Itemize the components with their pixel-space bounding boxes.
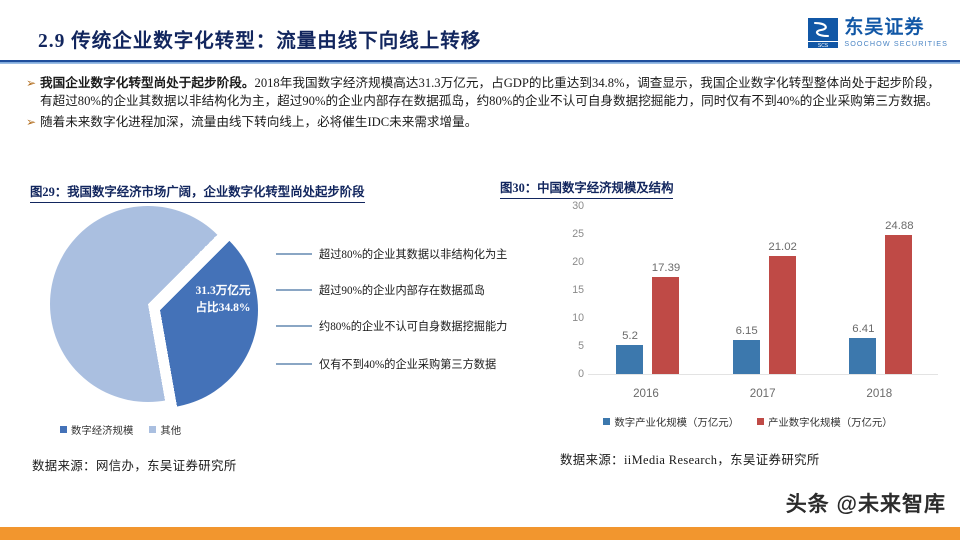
callout-leader-line: [276, 363, 312, 364]
x-axis-label-2016: 2016: [596, 387, 696, 400]
figure29-title: 图29：我国数字经济市场广阔，企业数字化转型尚处起步阶段: [30, 182, 365, 203]
bar-2018-series2: [885, 235, 912, 374]
bar-group: 6.4124.882018: [821, 207, 938, 374]
brand-name-cn: 东吴证券: [844, 18, 948, 37]
y-axis-tick: 30: [562, 200, 584, 212]
callout-text-4: 仅有不到40%的企业采购第三方数据: [319, 356, 496, 372]
figure29-panel: 图29：我国数字经济市场广阔，企业数字化转型尚处起步阶段: [30, 182, 485, 203]
y-axis-tick: 20: [562, 256, 584, 268]
footer-accent-bar: [0, 527, 960, 540]
bar-value-label: 5.2: [602, 330, 658, 342]
bullet-paragraph-2: ➢ 随着未来数字化进程加深，流量由线下转向线上，必将催生IDC未来需求增量。: [26, 113, 940, 131]
pie-value-line2: 占比34.8%: [168, 299, 278, 316]
bullet-paragraph-1: ➢ 我国企业数字化转型尚处于起步阶段。2018年我国数字经济规模高达31.3万亿…: [26, 74, 940, 111]
pie-value-line1: 31.3万亿元: [168, 282, 278, 299]
callout-leader-line: [276, 253, 312, 254]
body-text-block: ➢ 我国企业数字化转型尚处于起步阶段。2018年我国数字经济规模高达31.3万亿…: [26, 74, 940, 133]
svg-text:SCS: SCS: [818, 43, 829, 48]
legend-swatch-icon: [60, 426, 67, 433]
pie-center-label: 31.3万亿元 占比34.8%: [168, 282, 278, 316]
brand-name-en: SOOCHOW SECURITIES: [844, 40, 948, 47]
pie-legend-item-2: 其他: [149, 422, 181, 437]
pie-legend: 数字经济规模 其他: [60, 422, 181, 437]
bar-value-label: 6.41: [835, 323, 891, 335]
bar-legend-item-2: 产业数字化规模（万亿元）: [757, 414, 893, 429]
y-axis-tick: 0: [562, 368, 584, 380]
bar-2017-series2: [769, 256, 796, 374]
bar-legend: 数字产业化规模（万亿元）产业数字化规模（万亿元）: [548, 414, 948, 429]
y-axis-tick: 25: [562, 228, 584, 240]
pie-callout-3: 约80%的企业不认可自身数据挖掘能力: [276, 318, 507, 334]
page-title: 2.9 传统企业数字化转型：流量由线下向线上转移: [38, 24, 481, 53]
pie-legend-item-1: 数字经济规模: [60, 422, 133, 437]
bar-chart-y-axis: 051015202530: [556, 200, 584, 375]
y-axis-tick: 5: [562, 340, 584, 352]
brand-logo: SCS 东吴证券 SOOCHOW SECURITIES: [808, 18, 948, 48]
pie-graphic: 31.3万亿元 占比34.8%: [50, 206, 262, 406]
watermark-text: 头条 @未来智库: [786, 488, 946, 518]
bar-legend-label-2: 产业数字化规模（万亿元）: [768, 414, 893, 429]
figure30-panel: 图30：中国数字经济规模及结构: [500, 178, 940, 199]
pie-legend-label-2: 其他: [160, 422, 181, 437]
bar-legend-item-1: 数字产业化规模（万亿元）: [603, 414, 739, 429]
legend-swatch-icon: [757, 418, 764, 425]
x-axis-label-2017: 2017: [713, 387, 813, 400]
bullet-arrow-icon: ➢: [26, 74, 40, 92]
figure30-source: 数据来源：iiMedia Research，东吴证券研究所: [560, 450, 820, 468]
figure30-title: 图30：中国数字经济规模及结构: [500, 178, 673, 199]
header-divider: [0, 60, 960, 64]
pie-callout-1: 超过80%的企业其数据以非结构化为主: [276, 246, 507, 262]
bar-group: 6.1521.022017: [705, 207, 822, 374]
paragraph-2-text: 随着未来数字化进程加深，流量由线下转向线上，必将催生IDC未来需求增量。: [40, 113, 940, 131]
bar-value-label: 21.02: [755, 241, 811, 253]
legend-swatch-icon: [603, 418, 610, 425]
bar-value-label: 24.88: [871, 220, 927, 232]
bar-value-label: 6.15: [719, 325, 775, 337]
bullet-arrow-icon: ➢: [26, 113, 40, 131]
callout-text-3: 约80%的企业不认可自身数据挖掘能力: [319, 318, 507, 334]
pie-legend-label-1: 数字经济规模: [71, 422, 133, 437]
bar-value-label: 17.39: [638, 262, 694, 274]
callout-leader-line: [276, 325, 312, 326]
bar-chart-plot-area: 5.217.3920166.1521.0220176.4124.882018: [588, 207, 938, 375]
pie-callout-2: 超过90%的企业内部存在数据孤岛: [276, 282, 485, 298]
bar-2017-series1: [733, 340, 760, 374]
legend-swatch-icon: [149, 426, 156, 433]
bar-2016-series1: [616, 345, 643, 374]
x-axis-label-2018: 2018: [829, 387, 929, 400]
page-header: 2.9 传统企业数字化转型：流量由线下向线上转移 SCS 东吴证券 SOOCHO…: [0, 0, 960, 66]
callout-leader-line: [276, 289, 312, 290]
bar-2018-series1: [849, 338, 876, 374]
y-axis-tick: 15: [562, 284, 584, 296]
bar-chart: 051015202530 5.217.3920166.1521.0220176.…: [556, 200, 946, 385]
bar-2016-series2: [652, 277, 679, 374]
figure29-source: 数据来源：网信办，东吴证券研究所: [32, 456, 237, 474]
y-axis-tick: 10: [562, 312, 584, 324]
callout-text-2: 超过90%的企业内部存在数据孤岛: [319, 282, 485, 298]
bar-group: 5.217.392016: [588, 207, 705, 374]
callout-text-1: 超过80%的企业其数据以非结构化为主: [319, 246, 507, 262]
soochow-logo-icon: SCS: [808, 18, 838, 48]
paragraph-1-lead: 我国企业数字化转型尚处于起步阶段。: [40, 76, 255, 90]
pie-chart: 31.3万亿元 占比34.8% 超过80%的企业其数据以非结构化为主 超过90%…: [28, 206, 488, 416]
pie-callout-4: 仅有不到40%的企业采购第三方数据: [276, 356, 496, 372]
bar-legend-label-1: 数字产业化规模（万亿元）: [614, 414, 739, 429]
